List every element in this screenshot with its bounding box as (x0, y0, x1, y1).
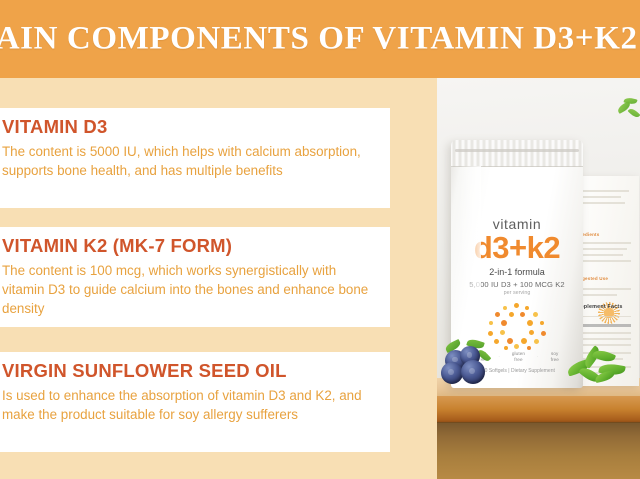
info-card-heading: VITAMIN K2 (MK-7 FORM) (2, 236, 374, 256)
info-card-heading: VITAMIN D3 (2, 117, 374, 137)
info-card-vitamin-k2: VITAMIN K2 (MK-7 FORM) The content is 10… (0, 227, 390, 327)
header-band: MAIN COMPONENTS OF VITAMIN D3+K2 (0, 0, 640, 78)
infographic-page: MAIN COMPONENTS OF VITAMIN D3+K2 VITAMIN… (0, 0, 640, 479)
page-title: MAIN COMPONENTS OF VITAMIN D3+K2 (0, 21, 640, 58)
info-card-sunflower-seed-oil: VIRGIN SUNFLOWER SEED OIL Is used to enh… (0, 352, 390, 452)
info-card-heading: VIRGIN SUNFLOWER SEED OIL (2, 361, 374, 381)
pouch-product-name: d3+k2 (451, 232, 583, 263)
decorative-leaves-top (615, 98, 640, 132)
info-card-body: The content is 5000 IU, which helps with… (2, 142, 374, 180)
badge-separator: · (498, 354, 500, 359)
pouch-formula-text: 2-in-1 formula (451, 267, 583, 277)
pouch-zip-seal (451, 140, 583, 167)
product-photo: Ingredients Suggested Use Supplement Fac… (437, 78, 640, 479)
table-front-edge (437, 396, 640, 423)
badge-soy-free: soy free (551, 351, 559, 362)
pouch-sunburst-icon (487, 303, 547, 351)
badge-gluten-free: gluten free (512, 351, 525, 362)
info-card-body: The content is 100 mcg, which works syne… (2, 261, 374, 318)
decorative-mint-leaves (567, 350, 629, 390)
content-column: VITAMIN D3 The content is 5000 IU, which… (0, 78, 418, 479)
badge-separator: · (537, 354, 539, 359)
decorative-blueberries (439, 340, 495, 386)
pouch-dose-text: 5,000 IU D3 + 100 MCG K2 (451, 280, 583, 289)
info-card-body: Is used to enhance the absorption of vit… (2, 386, 374, 424)
info-card-vitamin-d3: VITAMIN D3 The content is 5000 IU, which… (0, 108, 390, 208)
pouch-serving-text: per serving (451, 290, 583, 296)
table-under-shadow (437, 422, 640, 479)
